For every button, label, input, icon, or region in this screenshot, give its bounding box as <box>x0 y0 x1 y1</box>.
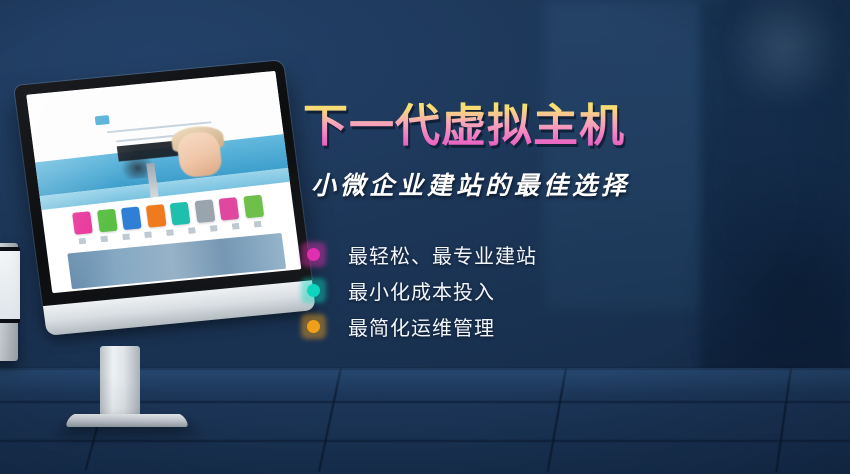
banner-copy: 下一代虚拟主机 小微企业建站的最佳选择 最轻松、最专业建站 最小化成本投入 最简… <box>303 100 723 344</box>
page-title: 下一代虚拟主机 <box>303 100 723 152</box>
floor-line-horizontal <box>0 440 850 442</box>
feature-list: 最轻松、最专业建站 最小化成本投入 最简化运维管理 <box>307 236 723 344</box>
list-item: 最轻松、最专业建站 <box>307 236 723 272</box>
bullet-dot-magenta <box>307 248 320 261</box>
app-icon <box>72 211 93 235</box>
imac-stand-neck <box>100 346 140 416</box>
feature-label: 最简化运维管理 <box>348 312 495 341</box>
app-icon <box>96 209 117 233</box>
feature-label: 最轻松、最专业建站 <box>348 240 537 269</box>
app-icon <box>243 195 264 219</box>
app-icon <box>121 207 142 231</box>
app-icon <box>194 199 215 223</box>
bullet-dot-teal <box>307 284 320 297</box>
app-icon <box>145 204 166 228</box>
page-subtitle: 小微企业建站的最佳选择 <box>311 172 723 202</box>
imac-stand-foot <box>64 414 190 427</box>
app-icon <box>219 197 240 221</box>
promo-banner: 下一代虚拟主机 小微企业建站的最佳选择 最轻松、最专业建站 最小化成本投入 最简… <box>0 0 850 474</box>
imac-display <box>6 84 306 384</box>
list-item: 最简化运维管理 <box>307 308 723 344</box>
feature-label: 最小化成本投入 <box>348 276 495 305</box>
bullet-dot-orange <box>307 320 320 333</box>
website-logo <box>95 115 110 125</box>
imac-screen <box>26 71 301 293</box>
app-icon <box>170 202 191 226</box>
imac-body <box>14 60 312 310</box>
list-item: 最小化成本投入 <box>307 272 723 308</box>
